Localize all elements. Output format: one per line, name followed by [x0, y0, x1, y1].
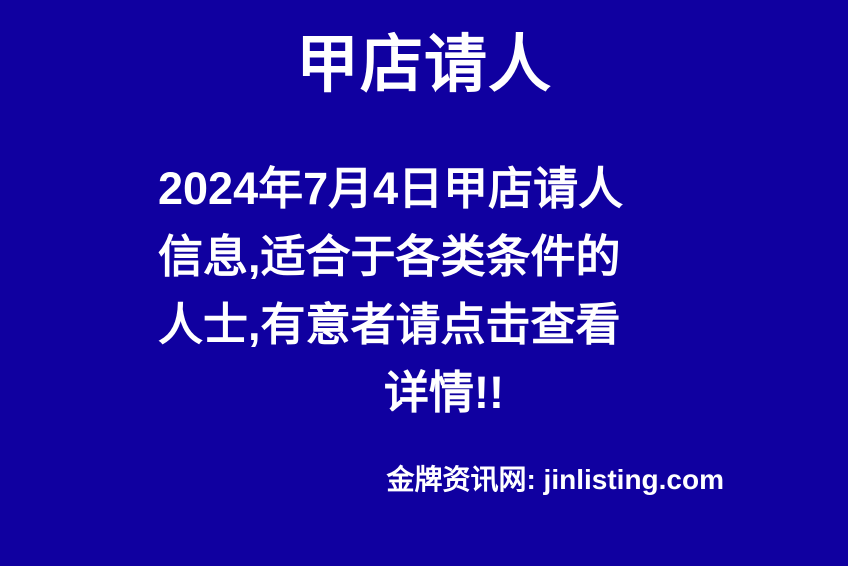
poster-canvas: 甲店请人 2024年7月4日甲店请人 信息,适合于各类条件的 人士,有意者请点击… [0, 0, 848, 566]
poster-body-text: 2024年7月4日甲店请人 信息,适合于各类条件的 人士,有意者请点击查看 详情… [158, 155, 730, 427]
body-line-3: 人士,有意者请点击查看 [158, 291, 730, 359]
body-line-2: 信息,适合于各类条件的 [158, 223, 730, 291]
body-line-1: 2024年7月4日甲店请人 [158, 155, 730, 223]
page-title: 甲店请人 [0, 28, 848, 102]
site-attribution: 金牌资讯网: jinlisting.com [0, 463, 848, 497]
body-line-4: 详情!! [158, 359, 730, 427]
